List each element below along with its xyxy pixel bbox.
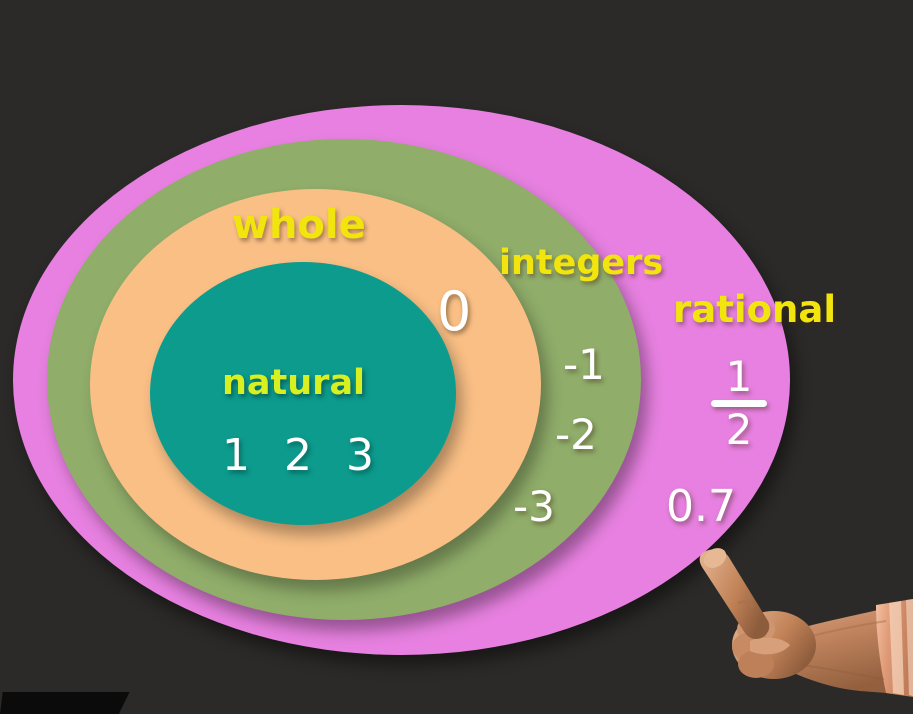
set-label-rational: rational: [673, 288, 836, 331]
member-zero-point-seven: 0.7: [666, 481, 736, 532]
member-natural-numbers: 1 2 3: [222, 430, 384, 481]
fraction-denominator: 2: [726, 409, 753, 450]
member-one-half-fraction: 1 2: [708, 356, 770, 450]
member-zero: 0: [437, 280, 471, 343]
member-negative-two: -2: [555, 410, 597, 459]
corner-dark-shape: [0, 692, 135, 714]
member-negative-three: -3: [513, 482, 555, 531]
member-negative-one: -1: [563, 340, 605, 389]
hand-pointing-icon: [690, 545, 913, 714]
set-label-natural: natural: [222, 363, 365, 403]
set-label-integers: integers: [499, 243, 663, 283]
set-label-whole: whole: [232, 202, 366, 248]
fraction-numerator: 1: [726, 356, 753, 397]
diagram-canvas: whole integers rational natural 0 -1 -2 …: [0, 0, 913, 714]
